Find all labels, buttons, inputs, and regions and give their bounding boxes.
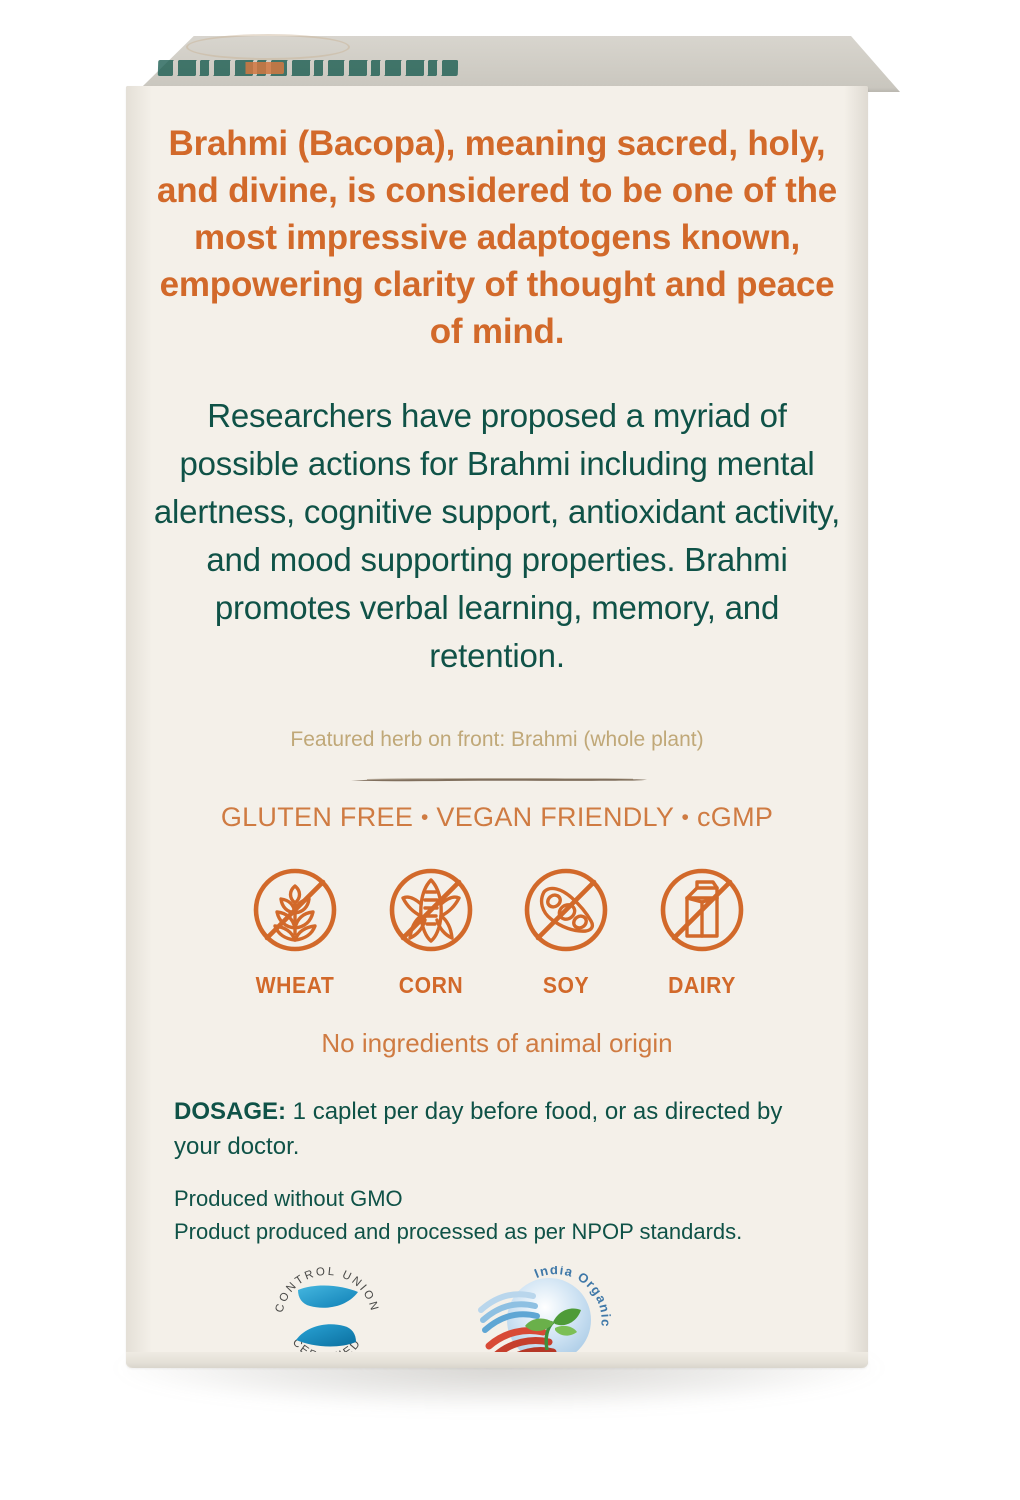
allergen-label-wheat: WHEAT bbox=[241, 972, 350, 999]
allergen-item-soy: SOY bbox=[507, 858, 625, 999]
animal-origin-text: No ingredients of animal origin bbox=[142, 1026, 852, 1060]
brush-divider bbox=[349, 770, 649, 777]
body-paragraph: Researchers have proposed a myriad of po… bbox=[144, 392, 850, 680]
claim-separator-1: • bbox=[421, 806, 429, 829]
top-face-seal-oval bbox=[186, 34, 350, 60]
claim-vegan-friendly: VEGAN FRIENDLY bbox=[436, 802, 673, 832]
claim-separator-2: • bbox=[682, 806, 690, 829]
carton-back-panel: Brahmi (Bacopa), meaning sacred, holy, a… bbox=[126, 86, 868, 1368]
no-wheat-icon bbox=[236, 858, 354, 967]
no-soy-icon bbox=[507, 858, 625, 967]
allergen-item-dairy: DAIRY bbox=[643, 858, 761, 999]
india-organic-text: India Organic bbox=[623, 1266, 624, 1267]
top-face-wordmark bbox=[158, 60, 459, 76]
allergen-item-corn: CORN bbox=[372, 858, 490, 999]
allergen-item-wheat: WHEAT bbox=[236, 858, 354, 999]
top-face-logo-note: brand wordmark printed upside-down on to… bbox=[110, 36, 111, 37]
carton-top-face: brand wordmark printed upside-down on to… bbox=[110, 36, 900, 92]
allergen-label-dairy: DAIRY bbox=[648, 972, 757, 999]
no-dairy-icon bbox=[643, 858, 761, 967]
gmo-line: Produced without GMO bbox=[174, 1182, 834, 1215]
dosage-label: DOSAGE: bbox=[174, 1098, 286, 1125]
npop-line: Product produced and processed as per NP… bbox=[174, 1215, 834, 1248]
allergen-label-corn: CORN bbox=[376, 972, 485, 999]
allergen-free-icons: WHEAT bbox=[236, 858, 761, 1008]
no-corn-icon bbox=[372, 858, 490, 967]
product-package-photo: brand wordmark printed upside-down on to… bbox=[0, 0, 1020, 1500]
claim-cgmp: cGMP bbox=[697, 802, 773, 832]
gmo-npop-block: Produced without GMO Product produced an… bbox=[174, 1182, 834, 1248]
dosage-block: DOSAGE: 1 caplet per day before food, or… bbox=[174, 1094, 814, 1164]
allergen-label-soy: SOY bbox=[512, 972, 621, 999]
featured-herb-text: Featured herb on front: Brahmi (whole pl… bbox=[146, 726, 848, 754]
top-face-brand-logo bbox=[190, 38, 520, 90]
claim-gluten-free: GLUTEN FREE bbox=[221, 802, 413, 832]
headline-text: Brahmi (Bacopa), meaning sacred, holy, a… bbox=[154, 120, 840, 355]
claims-line: GLUTEN FREE • VEGAN FRIENDLY • cGMP bbox=[142, 800, 852, 835]
top-face-wordmark-accent bbox=[220, 62, 284, 74]
carton-bottom-edge bbox=[126, 1352, 868, 1368]
